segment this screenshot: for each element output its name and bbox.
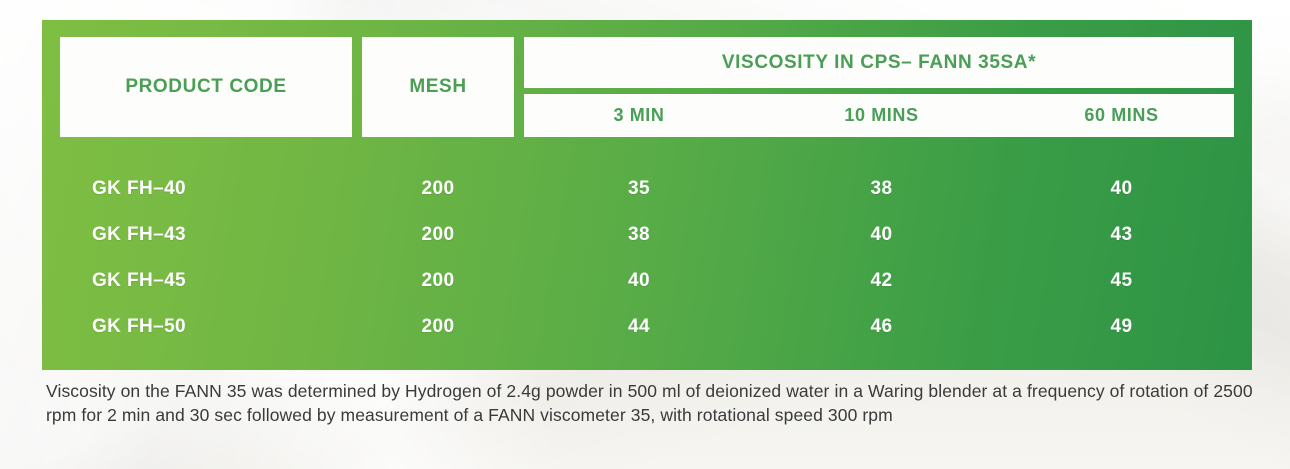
cell-viscosity-3-min: 38 [524, 212, 754, 258]
header-cell-viscosity-group: VISCOSITY IN CPS– FANN 35SA* [524, 37, 1234, 88]
value-mesh: 200 [422, 178, 455, 200]
value-product-code: GK FH–50 [92, 316, 186, 338]
cell-product-code: GK FH–40 [92, 166, 352, 212]
product-specification-sheet: PRODUCT CODE MESH VISCOSITY IN CPS– FANN… [0, 0, 1290, 469]
viscosity-table: PRODUCT CODE MESH VISCOSITY IN CPS– FANN… [42, 20, 1252, 370]
table-row: GK FH–40 200 35 38 40 [42, 166, 1252, 212]
value-product-code: GK FH–40 [92, 178, 186, 200]
cell-mesh: 200 [362, 212, 514, 258]
header-label-viscosity-group: VISCOSITY IN CPS– FANN 35SA* [722, 52, 1036, 74]
value-viscosity-3-min: 44 [628, 316, 650, 338]
value-viscosity-3-min: 40 [628, 270, 650, 292]
header-cell-mesh: MESH [362, 37, 514, 137]
value-viscosity-10-mins: 42 [871, 270, 893, 292]
header-cell-60-mins: 60 MINS [1009, 94, 1234, 137]
value-viscosity-60-mins: 49 [1111, 316, 1133, 338]
value-viscosity-3-min: 35 [628, 178, 650, 200]
cell-product-code: GK FH–43 [92, 212, 352, 258]
cell-viscosity-3-min: 44 [524, 304, 754, 350]
header-label-10-mins: 10 MINS [844, 105, 918, 126]
value-product-code: GK FH–45 [92, 270, 186, 292]
value-viscosity-60-mins: 45 [1111, 270, 1133, 292]
header-cell-10-mins: 10 MINS [754, 94, 1009, 137]
cell-viscosity-10-mins: 42 [754, 258, 1009, 304]
cell-product-code: GK FH–50 [92, 304, 352, 350]
cell-viscosity-60-mins: 40 [1009, 166, 1234, 212]
cell-viscosity-10-mins: 46 [754, 304, 1009, 350]
value-mesh: 200 [422, 224, 455, 246]
table-row: GK FH–43 200 38 40 43 [42, 212, 1252, 258]
table-header: PRODUCT CODE MESH VISCOSITY IN CPS– FANN… [42, 20, 1252, 152]
cell-viscosity-60-mins: 43 [1009, 212, 1234, 258]
cell-mesh: 200 [362, 258, 514, 304]
value-viscosity-60-mins: 40 [1111, 178, 1133, 200]
header-label-product-code: PRODUCT CODE [125, 76, 286, 98]
cell-viscosity-10-mins: 38 [754, 166, 1009, 212]
value-mesh: 200 [422, 316, 455, 338]
header-subrow: 3 MIN 10 MINS 60 MINS [524, 94, 1234, 137]
cell-mesh: 200 [362, 304, 514, 350]
header-label-60-mins: 60 MINS [1084, 105, 1158, 126]
cell-mesh: 200 [362, 166, 514, 212]
cell-product-code: GK FH–45 [92, 258, 352, 304]
header-label-3-min: 3 MIN [613, 105, 664, 126]
value-viscosity-60-mins: 43 [1111, 224, 1133, 246]
table-body: GK FH–40 200 35 38 40 GK FH–43 [42, 166, 1252, 350]
header-cell-3-min: 3 MIN [524, 94, 754, 137]
value-mesh: 200 [422, 270, 455, 292]
value-viscosity-10-mins: 40 [871, 224, 893, 246]
cell-viscosity-60-mins: 45 [1009, 258, 1234, 304]
footnote-text: Viscosity on the FANN 35 was determined … [46, 379, 1261, 427]
cell-viscosity-10-mins: 40 [754, 212, 1009, 258]
cell-viscosity-60-mins: 49 [1009, 304, 1234, 350]
value-viscosity-3-min: 38 [628, 224, 650, 246]
table-row: GK FH–50 200 44 46 49 [42, 304, 1252, 350]
value-viscosity-10-mins: 38 [871, 178, 893, 200]
header-cell-product-code: PRODUCT CODE [60, 37, 352, 137]
cell-viscosity-3-min: 40 [524, 258, 754, 304]
value-product-code: GK FH–43 [92, 224, 186, 246]
header-label-mesh: MESH [409, 76, 466, 98]
table-row: GK FH–45 200 40 42 45 [42, 258, 1252, 304]
value-viscosity-10-mins: 46 [871, 316, 893, 338]
cell-viscosity-3-min: 35 [524, 166, 754, 212]
